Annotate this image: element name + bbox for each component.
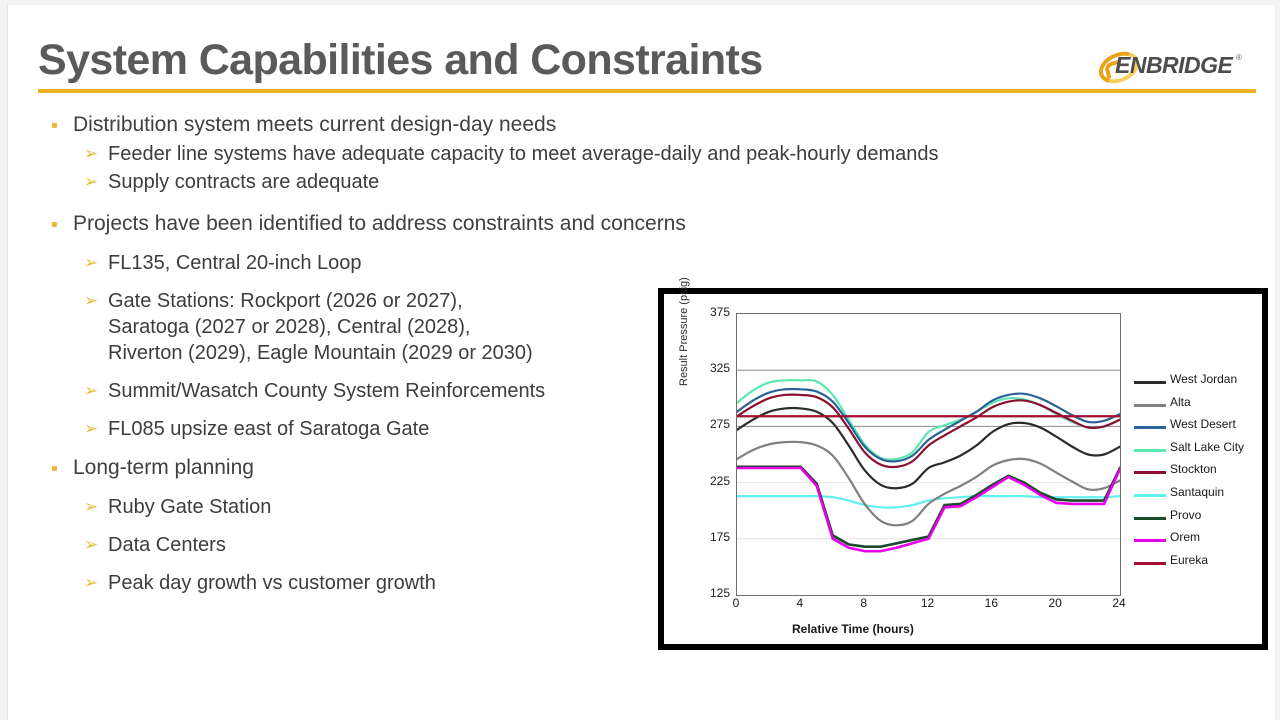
page-edge-right: [1275, 0, 1280, 720]
legend-item[interactable]: West Jordan: [1134, 372, 1264, 395]
bullet-dot-icon: [52, 466, 57, 471]
sub-bullet-arrow-icon: ➢: [84, 141, 98, 167]
bullet-text-line1: Gate Stations: Rockport (2026 or 2027),: [108, 290, 463, 312]
chart-x-tick-label: 20: [1043, 596, 1067, 610]
enbridge-logo: ENBRIDGE ®: [1098, 50, 1244, 82]
chart-y-tick-label: 375: [696, 305, 730, 319]
legend-color-swatch: [1134, 404, 1166, 407]
bullet-list: Distribution system meets current design…: [46, 112, 666, 598]
legend-color-swatch: [1134, 539, 1166, 542]
legend-color-swatch: [1134, 471, 1166, 474]
sub-bullet-arrow-icon: ➢: [84, 494, 98, 520]
bullet-dot-icon: [52, 222, 57, 227]
chart-series-line: [737, 496, 1120, 508]
sub-bullet-arrow-icon: ➢: [84, 570, 98, 596]
chart-series-svg: [737, 314, 1120, 595]
chart-panel: Result Pressure (psig) 12517522527532537…: [658, 288, 1268, 650]
legend-label: West Jordan: [1170, 372, 1237, 386]
bullet-text: Peak day growth vs customer growth: [108, 572, 436, 594]
spacer: [46, 560, 666, 570]
legend-color-swatch: [1134, 494, 1166, 497]
title-underline-rule: [38, 89, 1256, 93]
legend-color-swatch: [1134, 517, 1166, 520]
page-title: System Capabilities and Constraints: [38, 36, 763, 85]
legend-color-swatch: [1134, 449, 1166, 452]
bullet-level2-ruby-gate: ➢ Ruby Gate Station: [46, 494, 666, 520]
bullet-text: Long-term planning: [73, 456, 254, 479]
bullet-text: Ruby Gate Station: [108, 496, 271, 518]
legend-item[interactable]: Provo: [1134, 508, 1264, 531]
bullet-level2-data-centers: ➢ Data Centers: [46, 532, 666, 558]
legend-color-swatch: [1134, 426, 1166, 429]
legend-label: Stockton: [1170, 462, 1217, 476]
legend-label: Orem: [1170, 530, 1200, 544]
sub-bullet-arrow-icon: ➢: [84, 169, 98, 195]
bullet-level2-peak-day-growth: ➢ Peak day growth vs customer growth: [46, 570, 666, 596]
bullet-text: Summit/Wasatch County System Reinforceme…: [108, 380, 545, 402]
bullet-level2-fl135: ➢ FL135, Central 20-inch Loop: [46, 250, 666, 276]
sub-bullet-arrow-icon: ➢: [84, 378, 98, 404]
chart-x-tick-label: 24: [1107, 596, 1131, 610]
chart-series-line: [737, 442, 1120, 526]
chart-y-tick-label: 175: [696, 530, 730, 544]
chart-series-line: [737, 380, 1120, 460]
bullet-level2-summit-wasatch: ➢ Summit/Wasatch County System Reinforce…: [46, 378, 666, 404]
bullet-text: Feeder line systems have adequate capaci…: [108, 143, 938, 165]
sub-bullet-arrow-icon: ➢: [84, 416, 98, 442]
logo-wordmark: ENBRIDGE: [1115, 52, 1232, 79]
chart-x-tick-label: 4: [788, 596, 812, 610]
legend-label: Eureka: [1170, 553, 1208, 567]
page-edge-top: [0, 0, 1280, 5]
bullet-level2-feeder-line: ➢ Feeder line systems have adequate capa…: [46, 141, 666, 167]
chart-inner: Result Pressure (psig) 12517522527532537…: [664, 294, 1262, 644]
legend-label: Alta: [1170, 395, 1191, 409]
bullet-text: Data Centers: [108, 534, 226, 556]
spacer: [46, 484, 666, 494]
legend-item[interactable]: Alta: [1134, 395, 1264, 418]
chart-y-tick-label: 225: [696, 474, 730, 488]
spacer: [46, 278, 666, 288]
bullet-text: FL135, Central 20-inch Loop: [108, 252, 362, 274]
chart-x-tick-label: 16: [979, 596, 1003, 610]
chart-plot-area: [736, 313, 1121, 596]
legend-label: Provo: [1170, 508, 1201, 522]
chart-y-tick-label: 325: [696, 361, 730, 375]
spacer: [46, 444, 666, 455]
bullet-text: FL085 upsize east of Saratoga Gate: [108, 418, 429, 440]
bullet-level2-fl085: ➢ FL085 upsize east of Saratoga Gate: [46, 416, 666, 442]
bullet-level1-distribution: Distribution system meets current design…: [46, 112, 666, 138]
legend-label: West Desert: [1170, 417, 1236, 431]
page-edge-left: [0, 0, 8, 720]
chart-x-axis-label: Relative Time (hours): [792, 622, 914, 636]
legend-item[interactable]: Salt Lake City: [1134, 440, 1264, 463]
bullet-dot-icon: [52, 123, 57, 128]
bullet-text-line3: Riverton (2029), Eagle Mountain (2029 or…: [108, 342, 533, 364]
spacer: [46, 406, 666, 416]
spacer: [46, 522, 666, 532]
bullet-text: Distribution system meets current design…: [73, 113, 556, 136]
chart-y-tick-label: 275: [696, 417, 730, 431]
chart-y-tick-group: 125175225275325375: [694, 294, 730, 644]
chart-series-line: [737, 389, 1120, 462]
bullet-text: Supply contracts are adequate: [108, 171, 379, 193]
logo-registered-mark: ®: [1236, 53, 1242, 62]
legend-item[interactable]: Eureka: [1134, 553, 1264, 576]
chart-x-tick-label: 8: [852, 596, 876, 610]
chart-y-axis-label: Result Pressure (psig): [678, 277, 690, 386]
legend-item[interactable]: Santaquin: [1134, 485, 1264, 508]
spacer: [46, 368, 666, 378]
chart-legend: West JordanAltaWest DesertSalt Lake City…: [1134, 372, 1264, 575]
bullet-level1-projects: Projects have been identified to address…: [46, 211, 666, 237]
legend-item[interactable]: West Desert: [1134, 417, 1264, 440]
chart-x-tick-label: 12: [916, 596, 940, 610]
bullet-level1-long-term-planning: Long-term planning: [46, 455, 666, 481]
sub-bullet-arrow-icon: ➢: [84, 250, 98, 276]
bullet-level2-gate-stations: ➢ Gate Stations: Rockport (2026 or 2027)…: [46, 288, 666, 366]
legend-item[interactable]: Orem: [1134, 530, 1264, 553]
spacer: [46, 240, 666, 250]
legend-label: Santaquin: [1170, 485, 1224, 499]
legend-label: Salt Lake City: [1170, 440, 1244, 454]
chart-x-tick-label: 0: [724, 596, 748, 610]
legend-item[interactable]: Stockton: [1134, 462, 1264, 485]
chart-series-line: [737, 467, 1120, 547]
sub-bullet-arrow-icon: ➢: [84, 288, 98, 314]
bullet-text-line2: Saratoga (2027 or 2028), Central (2028),: [108, 316, 470, 338]
bullet-text: Projects have been identified to address…: [73, 212, 686, 235]
sub-bullet-arrow-icon: ➢: [84, 532, 98, 558]
bullet-level2-supply-contracts: ➢ Supply contracts are adequate: [46, 169, 666, 195]
legend-color-swatch: [1134, 381, 1166, 384]
spacer: [46, 197, 666, 211]
legend-color-swatch: [1134, 562, 1166, 565]
